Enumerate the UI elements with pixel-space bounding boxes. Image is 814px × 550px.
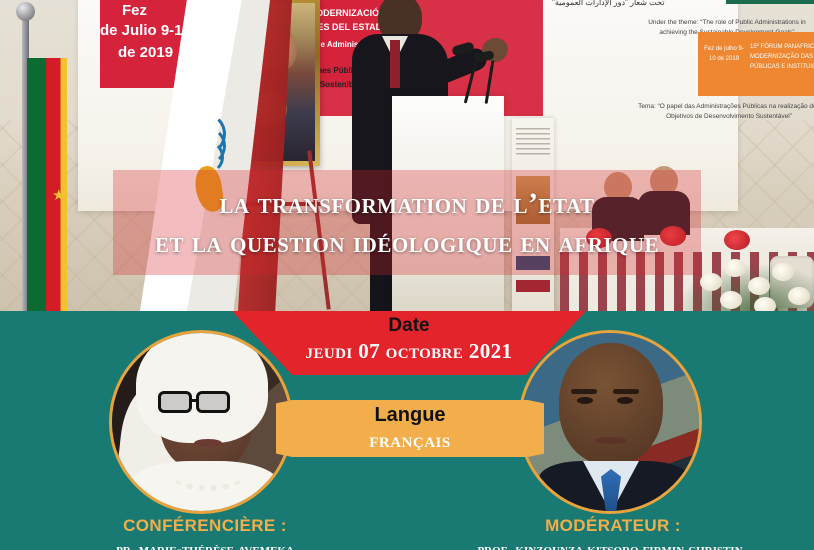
moderator-eyebrow-left <box>571 389 597 394</box>
moderator-eye-right <box>617 397 633 404</box>
slide-text-dates: de Julio 9-10 <box>100 22 191 41</box>
poster-title-line-1: La transformation de l’Etat <box>219 184 594 223</box>
flag-cameroon-star: ★ <box>52 186 65 204</box>
slide-theme-portuguese: Tema: “O papel das Administrações Públic… <box>634 102 814 123</box>
poster-title-band: La transformation de l’Etat et la questi… <box>113 170 701 275</box>
speaker-pearl-necklace <box>172 461 244 491</box>
moderator-name: Prof. KINZOUNZA Kitsoro Firmin Christin <box>405 541 814 550</box>
speaker-role-label: CONFÉRENCIÈRE : <box>40 516 370 536</box>
language-label: Langue <box>276 404 544 427</box>
slide-text-year: de 2019 <box>118 44 173 63</box>
speaker-eyeglass-left <box>158 391 192 413</box>
poster-details-section: Date Jeudi 07 Octobre 2021 Langue França… <box>0 311 814 550</box>
moderator-face <box>559 343 663 465</box>
conference-poster: Fez de Julio 9-10 de 2019 15° FORO al ma… <box>0 0 814 550</box>
flagpole-knob <box>16 2 35 21</box>
language-banner: Langue Français <box>276 400 544 457</box>
slide-text-fez: Fez <box>122 2 147 21</box>
slide-arabic-text: تحت شعار "دور الإدارات العمومية" <box>552 0 664 7</box>
flag-cameroon <box>27 58 67 311</box>
moderator-role-label: MODÉRATEUR : <box>448 516 778 536</box>
poster-title-line-2: et la question idéologique en Afrique <box>155 223 659 262</box>
date-banner: Date Jeudi 07 Octobre 2021 <box>232 311 586 375</box>
speaker-portrait <box>112 333 290 511</box>
white-flower-arrangement <box>690 247 814 311</box>
slide-orange-panel: Fez de julho 9-10 de 2019 15º FÓRUM PANA… <box>698 32 814 96</box>
conference-photo-banner: Fez de Julio 9-10 de 2019 15° FORO al ma… <box>0 0 814 311</box>
slide-orange-main-text: 15º FÓRUM PANAFRICANO SOBRE A MODERNIZAÇ… <box>750 42 814 73</box>
moderator-portrait <box>521 333 699 511</box>
slide-orange-left-text: Fez de julho 9-10 de 2019 <box>704 44 744 64</box>
date-label: Date <box>232 315 586 337</box>
speaker-lips <box>194 439 222 447</box>
speaker-eyeglass-bridge <box>192 399 198 402</box>
speaker-name: Pr. Marie‑Thérèse Avemeka <box>20 541 390 550</box>
speaker-eyeglass-right <box>196 391 230 413</box>
moderator-eyebrow-right <box>613 389 639 394</box>
slide-green-bar <box>726 0 814 4</box>
language-value: Français <box>276 428 544 453</box>
speaker-tie <box>390 40 400 88</box>
speaker-headwrap <box>136 333 268 443</box>
date-value: Jeudi 07 Octobre 2021 <box>232 339 586 364</box>
moderator-mouth <box>595 437 627 444</box>
moderator-eye-left <box>577 397 593 404</box>
